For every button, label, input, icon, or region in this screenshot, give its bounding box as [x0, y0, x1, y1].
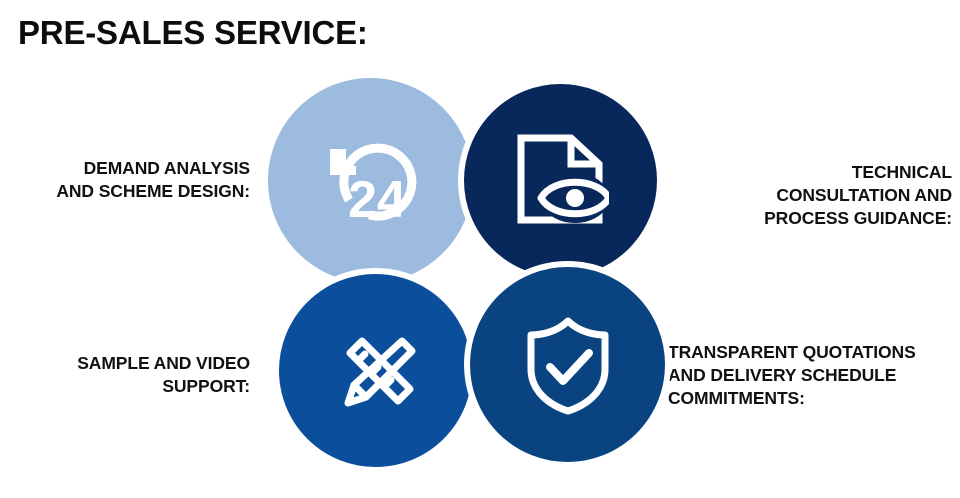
circle-cluster: 24 [268, 78, 688, 490]
circle-technical-consultation[interactable] [458, 78, 663, 283]
label-line: SAMPLE AND VIDEO [10, 352, 250, 375]
label-line: SUPPORT: [10, 375, 250, 398]
circle-transparent-quotations[interactable] [464, 261, 671, 468]
label-line: AND DELIVERY SCHEDULE [668, 364, 960, 387]
page-title: PRE-SALES SERVICE: [18, 14, 368, 52]
label-sample-video-support: SAMPLE AND VIDEO SUPPORT: [10, 352, 250, 398]
circle-sample-video-support[interactable] [273, 268, 478, 473]
shield-check-icon [521, 315, 615, 415]
label-technical-consultation: TECHNICAL CONSULTATION AND PROCESS GUIDA… [728, 161, 952, 230]
label-line: TRANSPARENT QUOTATIONS [668, 341, 960, 364]
label-line: CONSULTATION AND [728, 184, 952, 207]
label-line: COMMITMENTS: [668, 387, 960, 410]
label-line: TECHNICAL [728, 161, 952, 184]
label-demand-analysis: DEMAND ANALYSIS AND SCHEME DESIGN: [10, 157, 250, 203]
label-transparent-quotations: TRANSPARENT QUOTATIONS AND DELIVERY SCHE… [668, 341, 960, 410]
pen-and-ruler-icon [326, 323, 426, 419]
24-hour-rotation-icon: 24 [319, 133, 423, 229]
label-line: PROCESS GUIDANCE: [728, 207, 952, 230]
circle-demand-analysis[interactable]: 24 [268, 78, 473, 283]
document-eye-icon [513, 132, 609, 230]
label-line: DEMAND ANALYSIS [10, 157, 250, 180]
svg-text:24: 24 [348, 171, 406, 229]
label-line: AND SCHEME DESIGN: [10, 180, 250, 203]
